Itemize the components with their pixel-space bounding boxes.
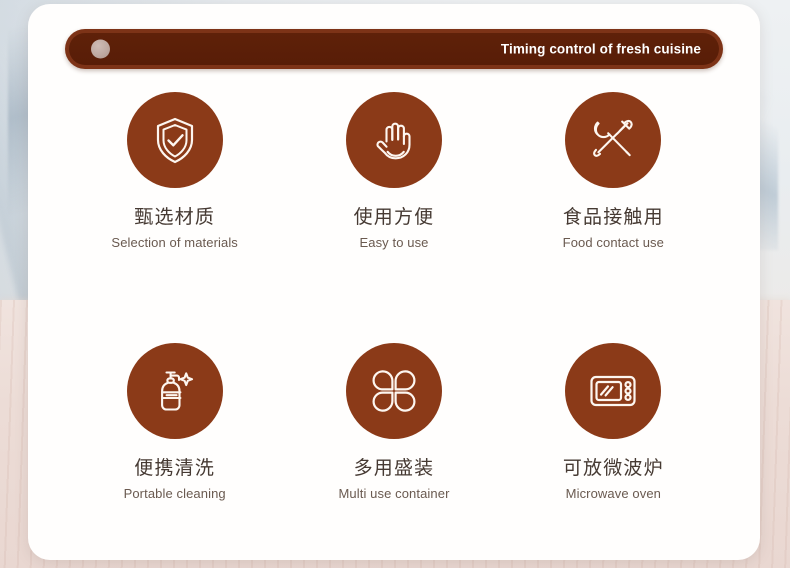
feature-card: Timing control of fresh cuisine 甄选材质 Sel…	[28, 4, 760, 560]
fork-knife-crossed-icon	[586, 113, 640, 167]
feature-title-cn: 便携清洗	[134, 459, 215, 478]
feature-title-en: Portable cleaning	[124, 487, 226, 500]
feature-title-cn: 甄选材质	[134, 208, 215, 227]
feature-item-microwave-oven: 可放微波炉 Microwave oven	[504, 343, 723, 500]
title-bar-text: Timing control of fresh cuisine	[501, 42, 701, 57]
feature-icon-badge	[127, 92, 223, 188]
feature-title-en: Microwave oven	[566, 487, 661, 500]
feature-item-easy-to-use: 使用方便 Easy to use	[284, 92, 503, 249]
feature-title-en: Food contact use	[563, 236, 664, 249]
four-compartment-clover-icon	[367, 364, 421, 418]
feature-item-multi-use-container: 多用盛装 Multi use container	[284, 343, 503, 500]
title-bar-inner: Timing control of fresh cuisine	[69, 33, 719, 65]
feature-icon-badge	[565, 343, 661, 439]
feature-item-food-contact-use: 食品接触用 Food contact use	[504, 92, 723, 249]
feature-title-cn: 可放微波炉	[563, 459, 664, 478]
feature-title-en: Selection of materials	[111, 236, 237, 249]
feature-icon-badge	[127, 343, 223, 439]
feature-icon-badge	[346, 343, 442, 439]
open-hand-icon	[368, 114, 420, 166]
feature-grid: 甄选材质 Selection of materials 使用方便 Easy to…	[65, 92, 723, 500]
shield-check-icon	[149, 114, 201, 166]
feature-title-en: Easy to use	[359, 236, 428, 249]
feature-title-cn: 食品接触用	[563, 208, 664, 227]
soap-dispenser-sparkle-icon	[149, 365, 201, 417]
microwave-oven-icon	[586, 364, 640, 418]
circle-knob-icon	[91, 40, 110, 59]
feature-title-cn: 使用方便	[354, 208, 435, 227]
feature-icon-badge	[346, 92, 442, 188]
feature-item-portable-cleaning: 便携清洗 Portable cleaning	[65, 343, 284, 500]
feature-title-en: Multi use container	[338, 487, 449, 500]
feature-item-selection-of-materials: 甄选材质 Selection of materials	[65, 92, 284, 249]
feature-icon-badge	[565, 92, 661, 188]
title-bar: Timing control of fresh cuisine	[65, 29, 723, 69]
feature-title-cn: 多用盛装	[354, 459, 435, 478]
